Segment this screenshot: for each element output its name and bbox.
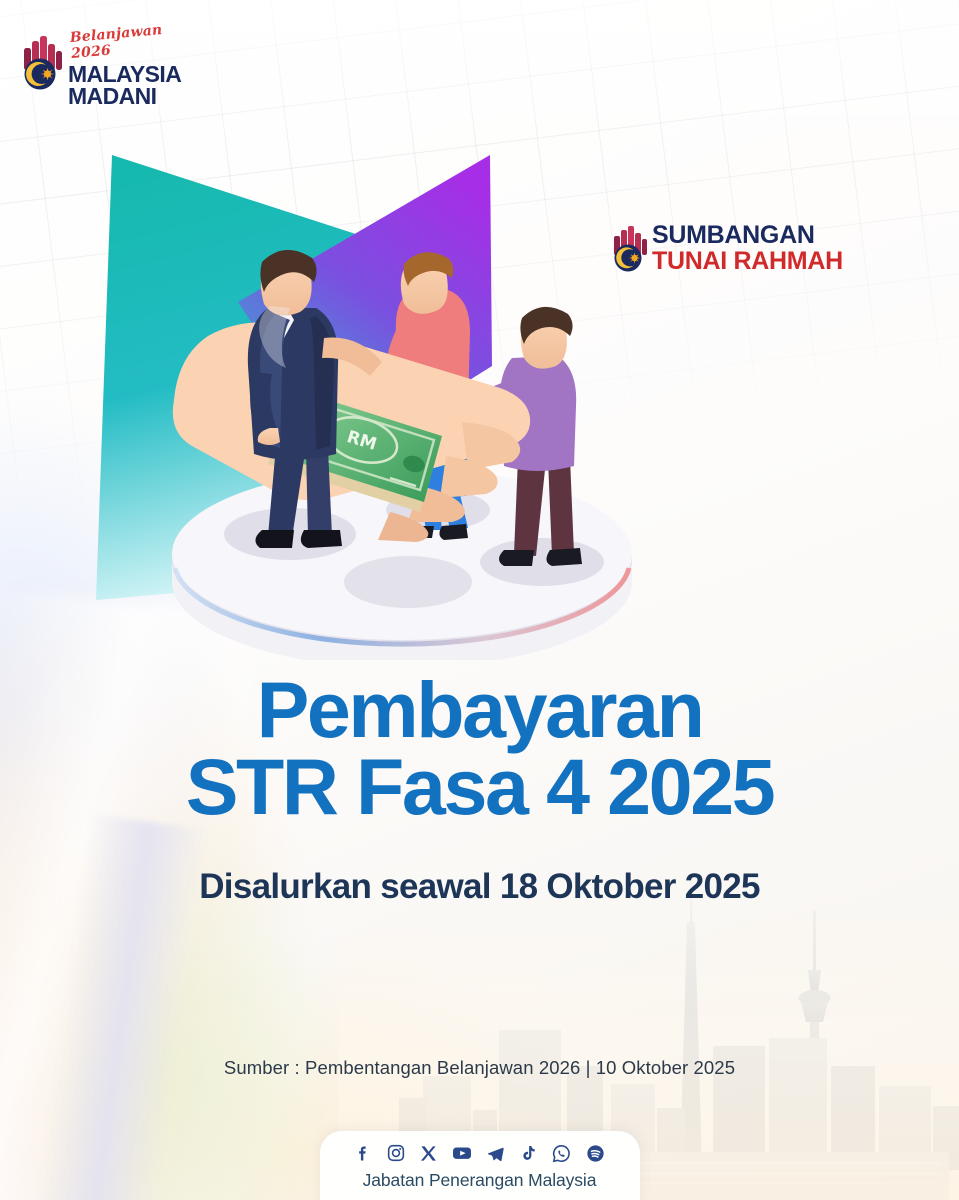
subtitle: Disalurkan seawal 18 Oktober 2025 [0,867,959,907]
shadow-person-purple [480,538,604,586]
madani-line2: MADANI [68,85,188,107]
tiktok-icon[interactable] [519,1144,538,1163]
madani-emblem-icon [16,34,72,92]
cash-handout-illustration: RM [90,130,730,660]
whatsapp-icon[interactable] [551,1143,572,1164]
malaysia-madani-logo: Belanjawan 2026 MALAYSIA MADANI [16,30,186,96]
spotify-icon[interactable] [585,1143,606,1164]
x-twitter-icon[interactable] [419,1144,438,1163]
headline-line-1: Pembayaran [0,672,959,749]
footer-card: Jabatan Penerangan Malaysia [320,1131,640,1200]
poster-root: Belanjawan 2026 MALAYSIA MADANI SUMBANGA… [0,0,959,1200]
telegram-icon[interactable] [486,1143,506,1163]
facebook-icon[interactable] [353,1143,373,1163]
headline-line-2: STR Fasa 4 2025 [0,749,959,826]
madani-line1: MALAYSIA [68,63,188,85]
source-line: Sumber : Pembentangan Belanjawan 2026 | … [0,1057,959,1079]
instagram-icon[interactable] [386,1143,406,1163]
headline: Pembayaran STR Fasa 4 2025 [0,672,959,825]
youtube-icon[interactable] [451,1142,473,1164]
agency-name: Jabatan Penerangan Malaysia [363,1170,597,1191]
social-icon-row [353,1142,606,1164]
